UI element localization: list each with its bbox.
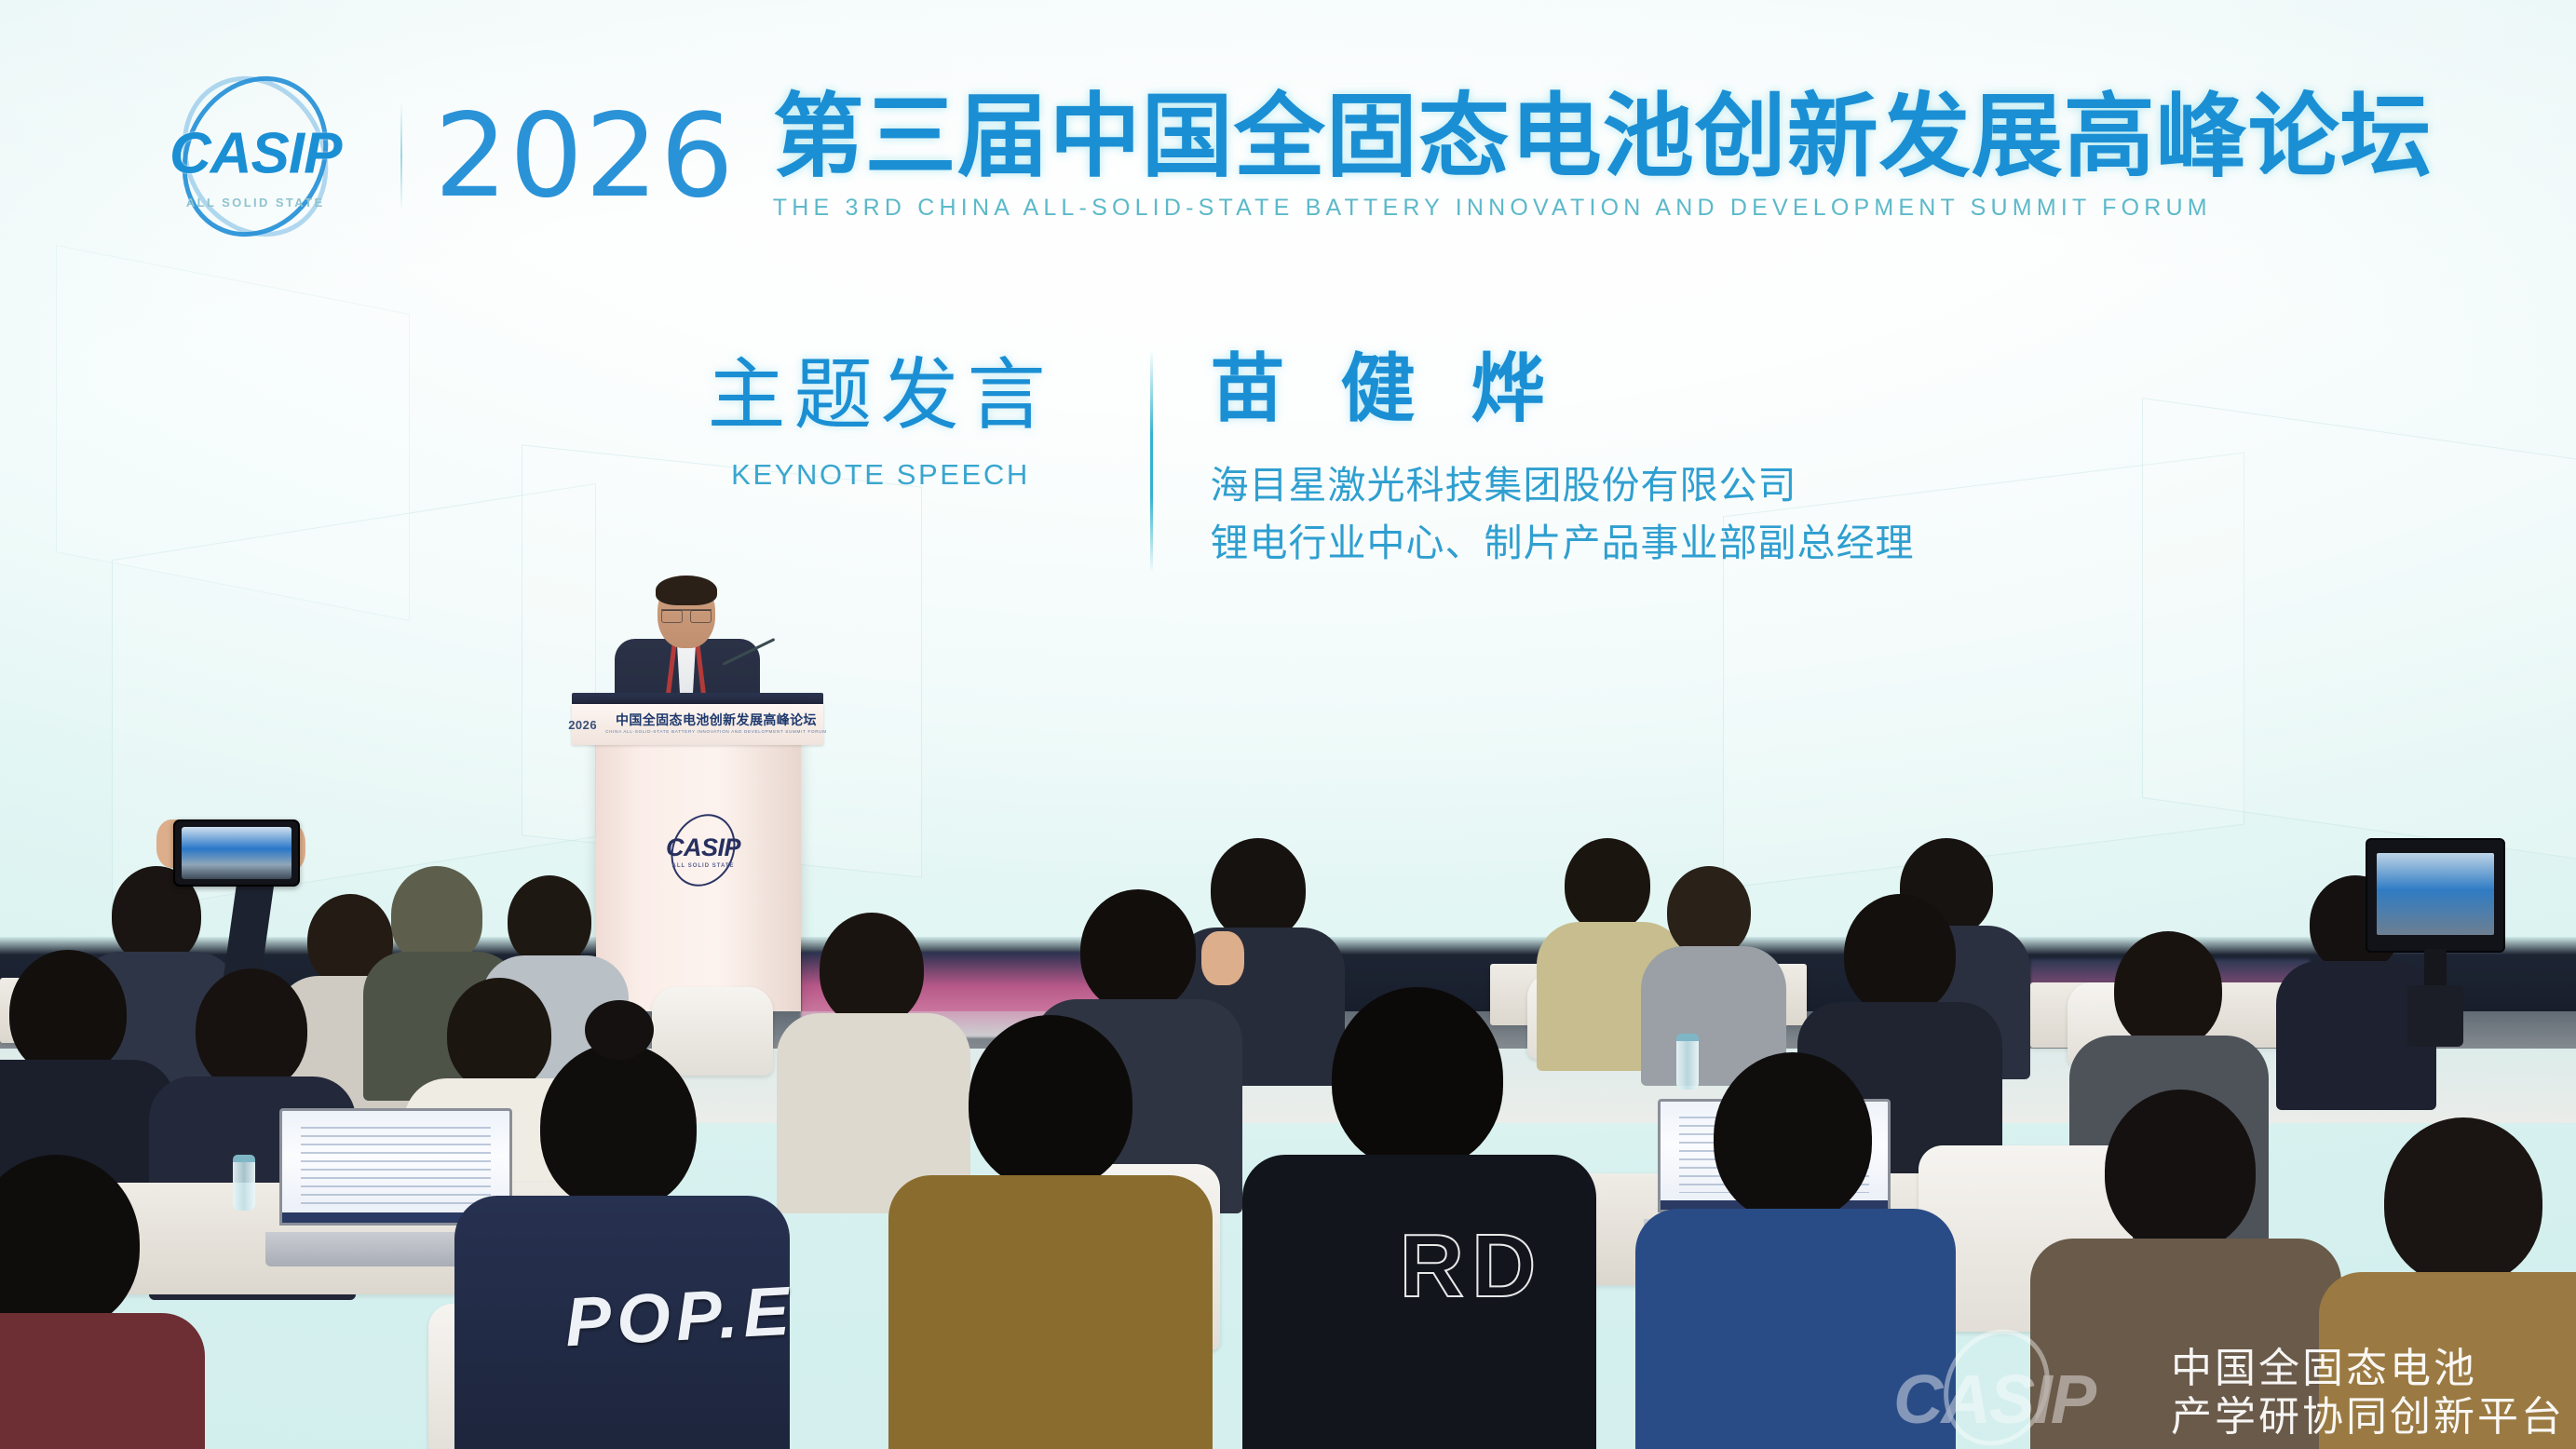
speaker-org-line1: 海目星激光科技集团股份有限公司 bbox=[1211, 456, 1915, 514]
keynote-label-en: KEYNOTE SPEECH bbox=[662, 458, 1100, 492]
forum-title-block: 第三届中国全固态电池创新发展高峰论坛 THE 3RD CHINA ALL-SOL… bbox=[773, 91, 2433, 223]
header-divider bbox=[400, 102, 402, 210]
speaker-org: 海目星激光科技集团股份有限公司 锂电行业中心、制片产品事业部副总经理 bbox=[1211, 456, 1915, 573]
keynote-label-cn: 主题发言 bbox=[662, 356, 1100, 434]
watermark-text: 中国全固态电池 产学研协同创新平台 bbox=[2171, 1345, 2565, 1445]
forum-title-en: THE 3RD CHINA ALL-SOLID-STATE BATTERY IN… bbox=[773, 195, 2212, 222]
podium-sign-text: 中国全固态电池创新发展高峰论坛 CHINA ALL-SOLID-STATE BA… bbox=[605, 714, 827, 735]
presenter-hair bbox=[656, 576, 717, 605]
speaker-name: 苗 健 烨 bbox=[1211, 350, 1915, 428]
watermark-casip-logo: CASIP bbox=[1893, 1334, 2154, 1445]
watermark: CASIP 中国全固态电池 产学研协同创新平台 bbox=[1893, 1334, 2565, 1445]
podium-sign: 2026 中国全固态电池创新发展高峰论坛 CHINA ALL-SOLID-STA… bbox=[572, 704, 823, 745]
podium-casip-logo: CASIP ALL SOLID STATE bbox=[652, 810, 754, 890]
watermark-line2: 产学研协同创新平台 bbox=[2171, 1393, 2565, 1442]
conference-photo: CASIP ALL SOLID STATE 2026 第三届中国全固态电池创新发… bbox=[0, 0, 2576, 1449]
podium-sign-en: CHINA ALL-SOLID-STATE BATTERY INNOVATION… bbox=[605, 730, 827, 735]
keynote-vertical-divider bbox=[1150, 350, 1153, 573]
casip-subtitle: ALL SOLID STATE bbox=[186, 196, 325, 210]
casip-wordmark: CASIP bbox=[169, 121, 341, 187]
watermark-wordmark: CASIP bbox=[1893, 1360, 2095, 1439]
speaker-org-line2: 锂电行业中心、制片产品事业部副总经理 bbox=[1211, 514, 1915, 572]
podium-logo-subtitle: ALL SOLID STATE bbox=[672, 863, 735, 869]
podium-sign-year: 2026 bbox=[568, 718, 597, 732]
glasses-icon bbox=[661, 609, 712, 620]
keynote-label-group: 主题发言 KEYNOTE SPEECH bbox=[662, 346, 1100, 492]
podium-sign-cn: 中国全固态电池创新发展高峰论坛 bbox=[616, 714, 817, 728]
stage-pink-panel bbox=[801, 952, 1322, 1037]
stage-pink-panel bbox=[2030, 959, 2310, 1024]
speaker-info-group: 苗 健 烨 海目星激光科技集团股份有限公司 锂电行业中心、制片产品事业部副总经理 bbox=[1211, 346, 1915, 573]
forum-year: 2026 bbox=[434, 99, 736, 214]
podium-logo-wordmark: CASIP bbox=[666, 833, 740, 862]
casip-logo: CASIP ALL SOLID STATE bbox=[143, 82, 367, 231]
forum-header-banner: CASIP ALL SOLID STATE 2026 第三届中国全固态电池创新发… bbox=[0, 63, 2576, 250]
forum-title-cn: 第三届中国全固态电池创新发展高峰论坛 bbox=[773, 91, 2433, 184]
watermark-line1: 中国全固态电池 bbox=[2171, 1345, 2477, 1393]
keynote-block: 主题发言 KEYNOTE SPEECH 苗 健 烨 海目星激光科技集团股份有限公… bbox=[0, 346, 2576, 573]
